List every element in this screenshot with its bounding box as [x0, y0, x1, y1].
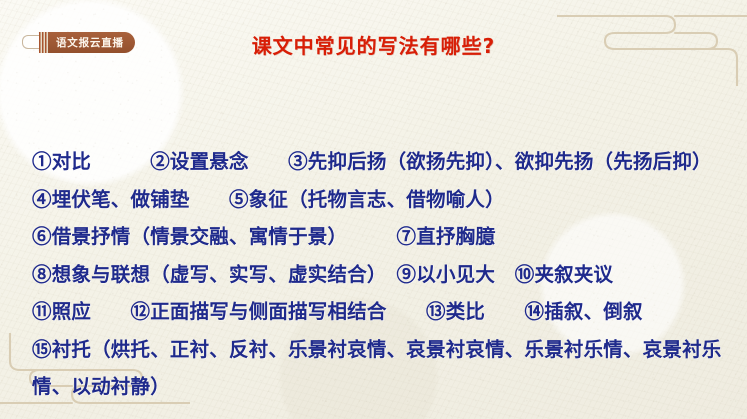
slide-canvas: 语文报云直播 课文中常见的写法有哪些? ①对比 ②设置悬念 ③先抑后扬（欲扬先抑…	[0, 0, 747, 419]
content-body: ①对比 ②设置悬念 ③先抑后扬（欲扬先抑）、欲抑先扬（先扬后抑） ④埋伏笔、做铺…	[32, 68, 722, 419]
page-title: 课文中常见的写法有哪些?	[0, 30, 747, 59]
slide-header: 语文报云直播 课文中常见的写法有哪些?	[0, 12, 747, 46]
writing-techniques-list-block: ①对比 ②设置悬念 ③先抑后扬（欲扬先抑）、欲抑先扬（先扬后抑） ④埋伏笔、做铺…	[32, 143, 722, 406]
